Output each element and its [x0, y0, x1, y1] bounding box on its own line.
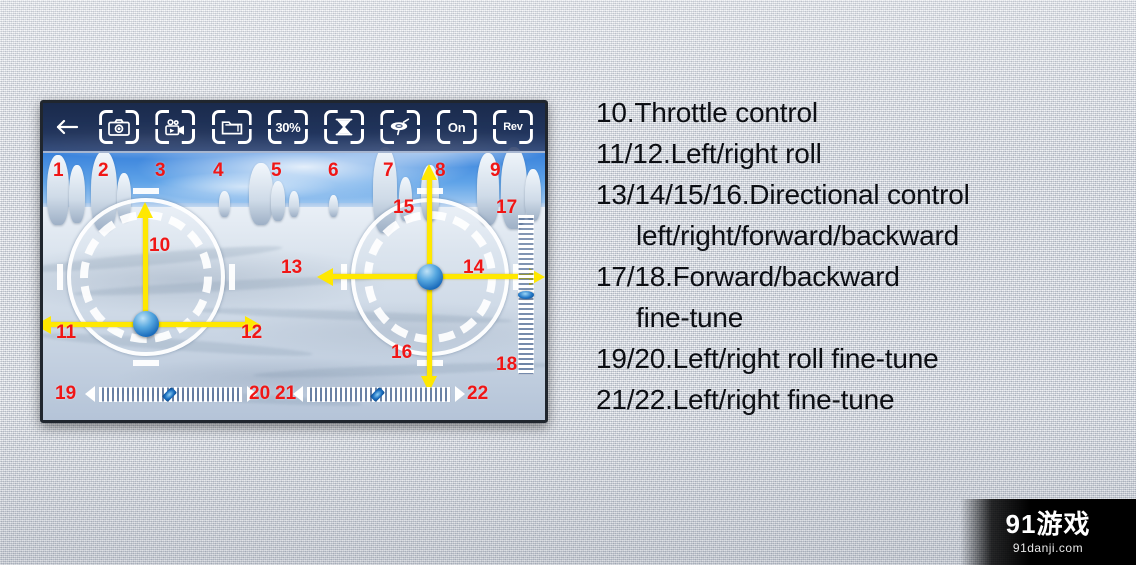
video-record-button[interactable]	[155, 110, 195, 144]
left-joystick-arrow-right	[245, 316, 261, 334]
device-screenshot-panel: 30%	[40, 100, 548, 423]
percent-text-icon: 30%	[275, 121, 300, 134]
left-joystick-arrow-up	[137, 202, 153, 218]
legend-line: 21/22.Left/right fine-tune	[596, 379, 1116, 420]
left-joystick-tick-bottom	[133, 360, 159, 366]
control-legend: 10.Throttle control 11/12.Left/right rol…	[596, 92, 1116, 420]
snow-tree	[525, 169, 541, 221]
video-camera-icon	[164, 119, 186, 136]
left-joystick-arrow-left	[40, 316, 51, 334]
forward-backward-trim-slider[interactable]	[517, 215, 534, 375]
gyro-calibrate-button[interactable]	[380, 110, 420, 144]
flip-button[interactable]	[324, 110, 364, 144]
right-joystick-arrow-left	[317, 268, 333, 286]
camera-icon	[108, 119, 130, 136]
watermark-logo-text: 91游戏	[1006, 511, 1091, 537]
site-watermark: 91游戏 91danji.com	[960, 499, 1136, 565]
roll-trim-left-arrow[interactable]	[85, 386, 95, 402]
on-text-icon: On	[448, 121, 465, 134]
legend-line: 10.Throttle control	[596, 92, 1116, 133]
gallery-button[interactable]	[212, 110, 252, 144]
right-joystick-arrow-up	[421, 164, 437, 180]
watermark-url-text: 91danji.com	[1013, 542, 1083, 554]
forward-backward-trim-indicator[interactable]	[518, 291, 534, 299]
right-joystick-knob[interactable]	[417, 264, 443, 290]
yaw-trim-slider[interactable]	[293, 386, 465, 402]
left-joystick[interactable]	[67, 198, 225, 356]
legend-line: 19/20.Left/right roll fine-tune	[596, 338, 1116, 379]
reverse-button[interactable]: Rev	[493, 110, 533, 144]
legend-line: 11/12.Left/right roll	[596, 133, 1116, 174]
left-joystick-tick-top	[133, 188, 159, 194]
left-joystick-throttle-axis	[143, 214, 148, 324]
legend-line: 17/18.Forward/backward	[596, 256, 1116, 297]
left-joystick-tick-right	[229, 264, 235, 290]
photo-capture-button[interactable]	[99, 110, 139, 144]
roll-trim-slider[interactable]	[85, 386, 257, 402]
left-joystick-knob[interactable]	[133, 311, 159, 337]
yaw-trim-left-arrow[interactable]	[293, 386, 303, 402]
folder-icon	[221, 119, 243, 136]
headless-toggle-button[interactable]: On	[437, 110, 477, 144]
app-toolbar: 30%	[43, 103, 545, 153]
snow-tree	[289, 191, 299, 217]
snow-tree	[47, 155, 69, 225]
legend-line: 13/14/15/16.Directional control	[596, 174, 1116, 215]
speed-rate-button[interactable]: 30%	[268, 110, 308, 144]
snow-tree	[329, 195, 338, 217]
left-joystick-tick-left	[57, 264, 63, 290]
snow-tree	[271, 181, 285, 221]
rev-text-icon: Rev	[503, 122, 522, 133]
legend-line: left/right/forward/backward	[596, 215, 1116, 256]
legend-line: fine-tune	[596, 297, 1116, 338]
hourglass-flip-icon	[334, 118, 354, 136]
snow-tree	[249, 163, 273, 225]
roll-trim-right-arrow[interactable]	[247, 386, 257, 402]
back-arrow-icon[interactable]	[43, 119, 87, 135]
right-joystick[interactable]	[351, 198, 509, 356]
yaw-trim-right-arrow[interactable]	[455, 386, 465, 402]
gyro-spinner-icon	[389, 118, 411, 136]
